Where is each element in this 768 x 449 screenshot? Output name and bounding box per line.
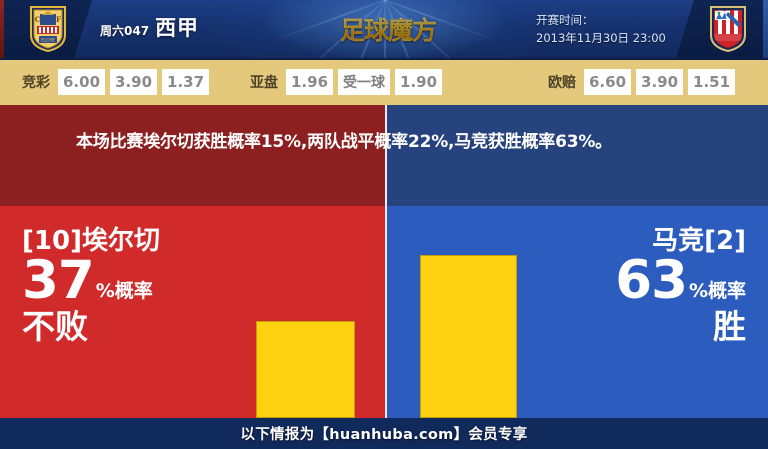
home-team-crest-icon: ELCHE C F xyxy=(28,5,68,53)
prediction-panels: [10]埃尔切 37 %概率 不败 马竞[2] 63 %概率 胜 xyxy=(0,206,768,418)
header-right-accent-stripe xyxy=(763,0,768,58)
league-name-label: 西甲 xyxy=(155,12,199,42)
site-brand-logo: 足球魔方 xyxy=(334,8,442,50)
away-probability-line: 63 %概率 xyxy=(615,256,746,306)
odds-group-label: 欧赔 xyxy=(548,72,576,92)
probability-summary-banner: 本场比赛埃尔切获胜概率15%,两队战平概率22%,马竞获胜概率63%。 xyxy=(0,105,768,206)
away-team-panel: 马竞[2] 63 %概率 胜 xyxy=(387,206,768,418)
away-outcome-label: 胜 xyxy=(615,310,746,343)
odds-cell[interactable]: 1.96 xyxy=(286,69,333,95)
home-team-panel: [10]埃尔切 37 %概率 不败 xyxy=(0,206,385,418)
odds-group-jingcai: 竞彩 6.00 3.90 1.37 xyxy=(22,69,209,95)
home-probability-bar xyxy=(256,321,355,418)
away-team-crest-icon xyxy=(708,5,748,53)
odds-cell[interactable]: 6.60 xyxy=(584,69,631,95)
home-probability-suffix: %概率 xyxy=(96,282,153,306)
home-team-block: [10]埃尔切 37 %概率 不败 xyxy=(22,228,160,343)
odds-group-label: 竞彩 xyxy=(22,72,50,92)
away-probability-suffix: %概率 xyxy=(689,282,746,306)
header-left-accent-stripe xyxy=(0,0,4,58)
footer-bar: 以下情报为【huanhuba.com】会员专享 xyxy=(0,418,768,449)
kickoff-time-block: 开赛时间： 2013年11月30日 23:00 xyxy=(536,11,666,47)
odds-cell[interactable]: 3.90 xyxy=(636,69,683,95)
kickoff-label: 开赛时间： xyxy=(536,11,666,29)
footer-membership-text: 以下情报为【huanhuba.com】会员专享 xyxy=(240,423,527,444)
kickoff-value: 2013年11月30日 23:00 xyxy=(536,29,666,47)
svg-text:C: C xyxy=(35,15,41,24)
away-probability-bar xyxy=(420,255,517,418)
odds-cell[interactable]: 1.37 xyxy=(162,69,209,95)
odds-cell[interactable]: 3.90 xyxy=(110,69,157,95)
away-team-block: 马竞[2] 63 %概率 胜 xyxy=(615,228,746,343)
odds-group-label: 亚盘 xyxy=(250,72,278,92)
odds-cell[interactable]: 1.51 xyxy=(688,69,735,95)
home-probability-line: 37 %概率 xyxy=(22,256,160,306)
away-probability-value: 63 xyxy=(615,256,687,306)
brand-logo-text: 足球魔方 xyxy=(340,11,436,47)
home-probability-value: 37 xyxy=(22,256,94,306)
odds-bar: 竞彩 6.00 3.90 1.37 亚盘 1.96 受一球 1.90 欧赔 6.… xyxy=(0,58,768,105)
home-outcome-label: 不败 xyxy=(22,310,160,343)
probability-summary-text: 本场比赛埃尔切获胜概率15%,两队战平概率22%,马竞获胜概率63%。 xyxy=(76,127,716,157)
odds-group-yapan: 亚盘 1.96 受一球 1.90 xyxy=(250,69,442,95)
odds-cell[interactable]: 1.90 xyxy=(395,69,442,95)
odds-cell[interactable]: 6.00 xyxy=(58,69,105,95)
odds-handicap-cell[interactable]: 受一球 xyxy=(338,69,390,95)
odds-group-oupei: 欧赔 6.60 3.90 1.51 xyxy=(548,69,735,95)
league-info: 周六047 西甲 xyxy=(100,12,199,42)
match-header: ELCHE C F 周六047 西甲 足球魔方 开赛时间： 2013年11月30… xyxy=(0,0,768,58)
match-preview-graphic: ELCHE C F 周六047 西甲 足球魔方 开赛时间： 2013年11月30… xyxy=(0,0,768,449)
match-round-label: 周六047 xyxy=(100,22,149,39)
svg-text:ELCHE: ELCHE xyxy=(41,38,55,43)
svg-text:F: F xyxy=(56,15,61,24)
